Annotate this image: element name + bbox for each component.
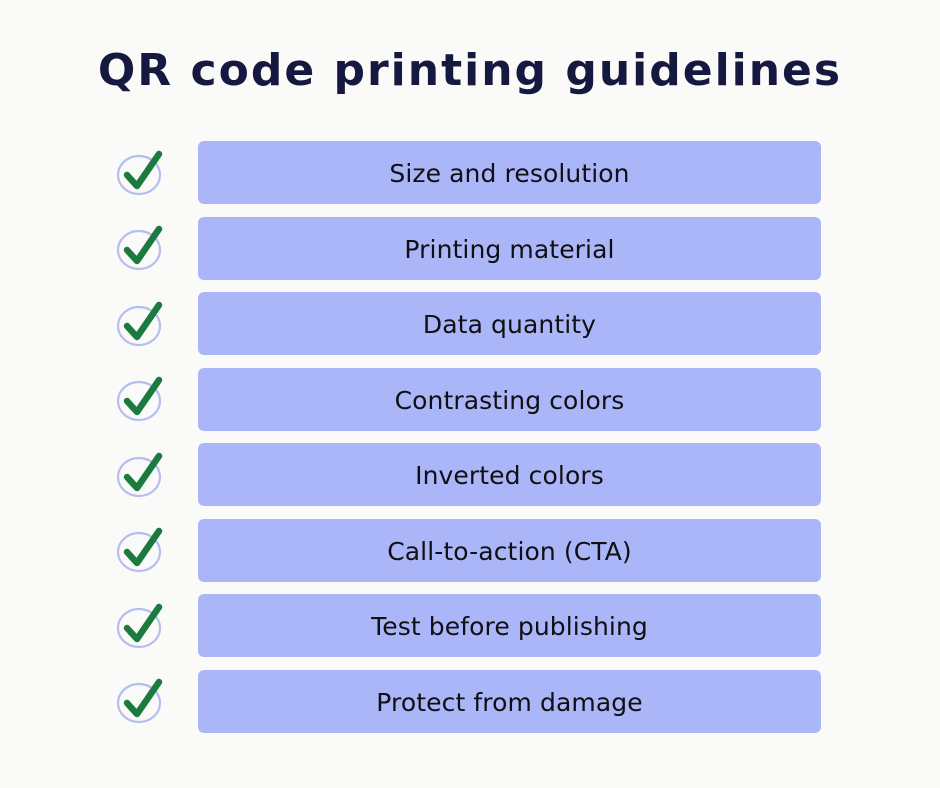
guideline-label: Call-to-action (CTA) [387, 539, 632, 564]
guideline-bar[interactable]: Contrasting colors [198, 368, 821, 431]
guideline-bar[interactable]: Printing material [198, 217, 821, 280]
guideline-bar[interactable]: Inverted colors [198, 443, 821, 506]
check-circle-icon [113, 598, 169, 654]
list-item: Size and resolution [0, 141, 940, 204]
list-item: Data quantity [0, 292, 940, 355]
check-circle-icon [113, 296, 169, 352]
guideline-bar[interactable]: Test before publishing [198, 594, 821, 657]
guideline-bar[interactable]: Call-to-action (CTA) [198, 519, 821, 582]
check-circle-icon [113, 145, 169, 201]
list-item: Test before publishing [0, 594, 940, 657]
check-circle-icon [113, 673, 169, 729]
guideline-label: Protect from damage [376, 690, 642, 715]
list-item: Printing material [0, 217, 940, 280]
list-item: Call-to-action (CTA) [0, 519, 940, 582]
infographic-page: QR code printing guidelines Size and res… [0, 0, 940, 788]
page-title: QR code printing guidelines [0, 44, 940, 98]
checklist: Size and resolution Printing material [0, 141, 940, 745]
check-circle-icon [113, 220, 169, 276]
guideline-label: Data quantity [423, 312, 596, 337]
guideline-label: Inverted colors [415, 463, 604, 488]
guideline-bar[interactable]: Size and resolution [198, 141, 821, 204]
guideline-label: Size and resolution [389, 161, 629, 186]
check-circle-icon [113, 522, 169, 578]
guideline-bar[interactable]: Data quantity [198, 292, 821, 355]
list-item: Contrasting colors [0, 368, 940, 431]
guideline-label: Test before publishing [371, 614, 648, 639]
guideline-bar[interactable]: Protect from damage [198, 670, 821, 733]
guideline-label: Printing material [404, 237, 614, 262]
check-circle-icon [113, 447, 169, 503]
check-circle-icon [113, 371, 169, 427]
list-item: Inverted colors [0, 443, 940, 506]
guideline-label: Contrasting colors [395, 388, 625, 413]
list-item: Protect from damage [0, 670, 940, 733]
